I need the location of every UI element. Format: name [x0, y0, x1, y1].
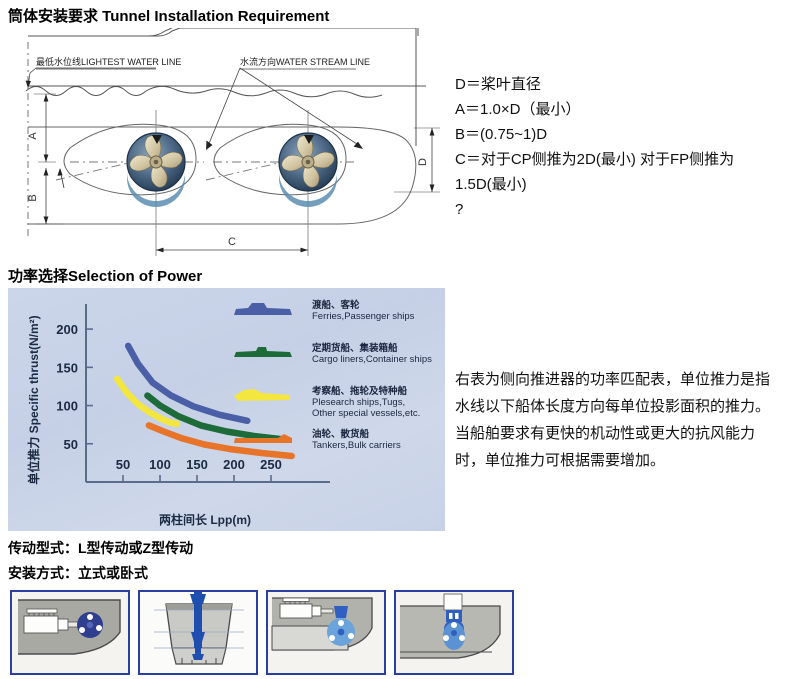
legend-ship-icon-1: [234, 347, 292, 357]
legend-label-en-2-1: Other special vessels,etc.: [312, 408, 420, 419]
legend-label-cn-3: 油轮、散货船: [312, 428, 370, 440]
spec-line-b: B＝(0.75~1)D: [455, 122, 780, 147]
legend-label-en-1-0: Cargo liners,Container ships: [312, 354, 432, 365]
legend-label-en-0-0: Ferries,Passenger ships: [312, 311, 415, 322]
water-stream-line-label: 水流方向WATER STREAM LINE: [240, 56, 370, 67]
panel-engine-z-drive-side[interactable]: [266, 590, 386, 675]
legend-label-en-2-0: Plesearch ships,Tugs,: [312, 397, 405, 408]
thruster-unit: [77, 612, 103, 638]
tunnel-installation-diagram: A B D C 最低水位线LIGHTEST WATER LINE 水流方向WAT…: [8, 28, 443, 256]
drive-type-line: 传动型式：L型传动或Z型传动: [8, 538, 193, 558]
chart-legend: 渡船、客轮Ferries,Passenger ships定期货船、集装箱船Car…: [234, 299, 432, 451]
panel-horizontal-l-drive-engine[interactable]: [10, 590, 130, 675]
spec-line-c: C＝对于CP侧推为2D(最小) 对于FP侧推为1.5D(最小): [455, 147, 780, 197]
spec-line-question: ?: [455, 197, 780, 222]
x-tick-label: 150: [186, 457, 208, 472]
legend-item-3: 油轮、散货船Tankers,Bulk carriers: [234, 428, 401, 451]
dimension-c-label: C: [228, 236, 236, 248]
spec-line-a: A＝1.0×D（最小）: [455, 97, 780, 122]
legend-item-2: 考察船、拖轮及特种船Plesearch ships,Tugs,Other spe…: [234, 385, 420, 419]
series-curve-2: [117, 379, 177, 424]
legend-label-en-3-0: Tankers,Bulk carriers: [312, 440, 401, 451]
spec-line-d: D＝桨叶直径: [455, 72, 780, 97]
x-tick-label: 250: [260, 457, 282, 472]
dimension-b-label: B: [27, 194, 39, 201]
legend-label-cn-2: 考察船、拖轮及特种船: [312, 385, 408, 397]
legend-ship-icon-0: [234, 303, 292, 315]
mount-type-line: 安装方式：立式或卧式: [8, 563, 148, 583]
installation-panel-strip: [10, 590, 530, 675]
dimension-a-label: A: [27, 132, 39, 140]
legend-label-cn-0: 渡船、客轮: [312, 299, 360, 311]
y-tick-label: 150: [56, 360, 78, 375]
x-tick-label: 50: [116, 457, 130, 472]
power-selection-chart: 5010015020050100150200250 渡船、客轮Ferries,P…: [8, 288, 445, 531]
lightest-water-line-label: 最低水位线LIGHTEST WATER LINE: [36, 56, 181, 67]
x-tick-label: 200: [223, 457, 245, 472]
legend-item-0: 渡船、客轮Ferries,Passenger ships: [234, 299, 415, 322]
chart-note-paragraph: 右表为侧向推进器的功率匹配表，单位推力是指水线以下船体长度方向每单位投影面积的推…: [455, 366, 775, 474]
y-axis-title: 单位推力 Specific thrust(N/m²): [26, 315, 41, 484]
x-axis-title: 两柱间长 Lpp(m): [159, 512, 251, 527]
y-tick-label: 200: [56, 322, 78, 337]
power-section-title: 功率选择Selection of Power: [8, 265, 202, 286]
tunnel-section-title: 筒体安装要求 Tunnel Installation Requirement: [8, 5, 329, 26]
tunnel-spec-list: D＝桨叶直径 A＝1.0×D（最小） B＝(0.75~1)D C＝对于CP侧推为…: [455, 72, 780, 222]
legend-ship-icon-2: [234, 389, 290, 401]
y-tick-label: 50: [64, 437, 78, 452]
panel-vertical-thruster-hull[interactable]: [394, 590, 514, 675]
y-tick-label: 100: [56, 399, 78, 414]
legend-label-cn-1: 定期货船、集装箱船: [311, 342, 398, 354]
dimension-d-label: D: [417, 158, 429, 166]
x-tick-label: 100: [149, 457, 171, 472]
thruster-unit: [443, 610, 465, 650]
chart-axis-titles: 两柱间长 Lpp(m)单位推力 Specific thrust(N/m²): [26, 315, 251, 527]
legend-item-1: 定期货船、集装箱船Cargo liners,Container ships: [234, 342, 432, 365]
panel-vertical-shaft-section[interactable]: [138, 590, 258, 675]
